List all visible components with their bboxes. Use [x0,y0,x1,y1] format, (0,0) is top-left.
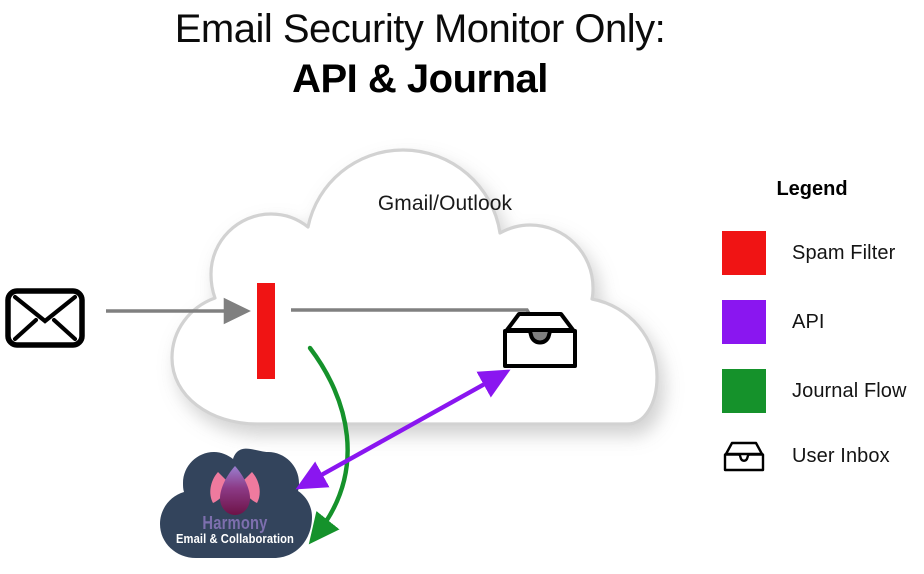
legend-title: Legend [700,178,924,201]
inbox-tray-icon [722,439,766,473]
legend-label-spam-filter: Spam Filter [792,242,895,265]
diagram-graphics [0,0,924,574]
diagram-canvas: Email Security Monitor Only: API & Journ… [0,0,924,574]
legend-swatch-journal-flow [722,369,766,413]
legend-item-spam-filter: Spam Filter [722,228,922,278]
legend-label-api: API [792,311,825,334]
legend-label-journal-flow: Journal Flow [792,380,907,403]
spam-filter-bar [257,283,275,379]
legend-swatch-spam-filter [722,231,766,275]
legend-item-user-inbox: User Inbox [722,434,922,478]
provider-cloud-label: Gmail/Outlook [330,192,560,216]
envelope-icon [8,291,82,345]
legend-swatch-api [722,300,766,344]
legend-label-user-inbox: User Inbox [792,445,890,468]
legend-item-journal-flow: Journal Flow [722,366,922,416]
harmony-tagline: Email & Collaboration [171,531,300,546]
legend-item-api: API [722,297,922,347]
